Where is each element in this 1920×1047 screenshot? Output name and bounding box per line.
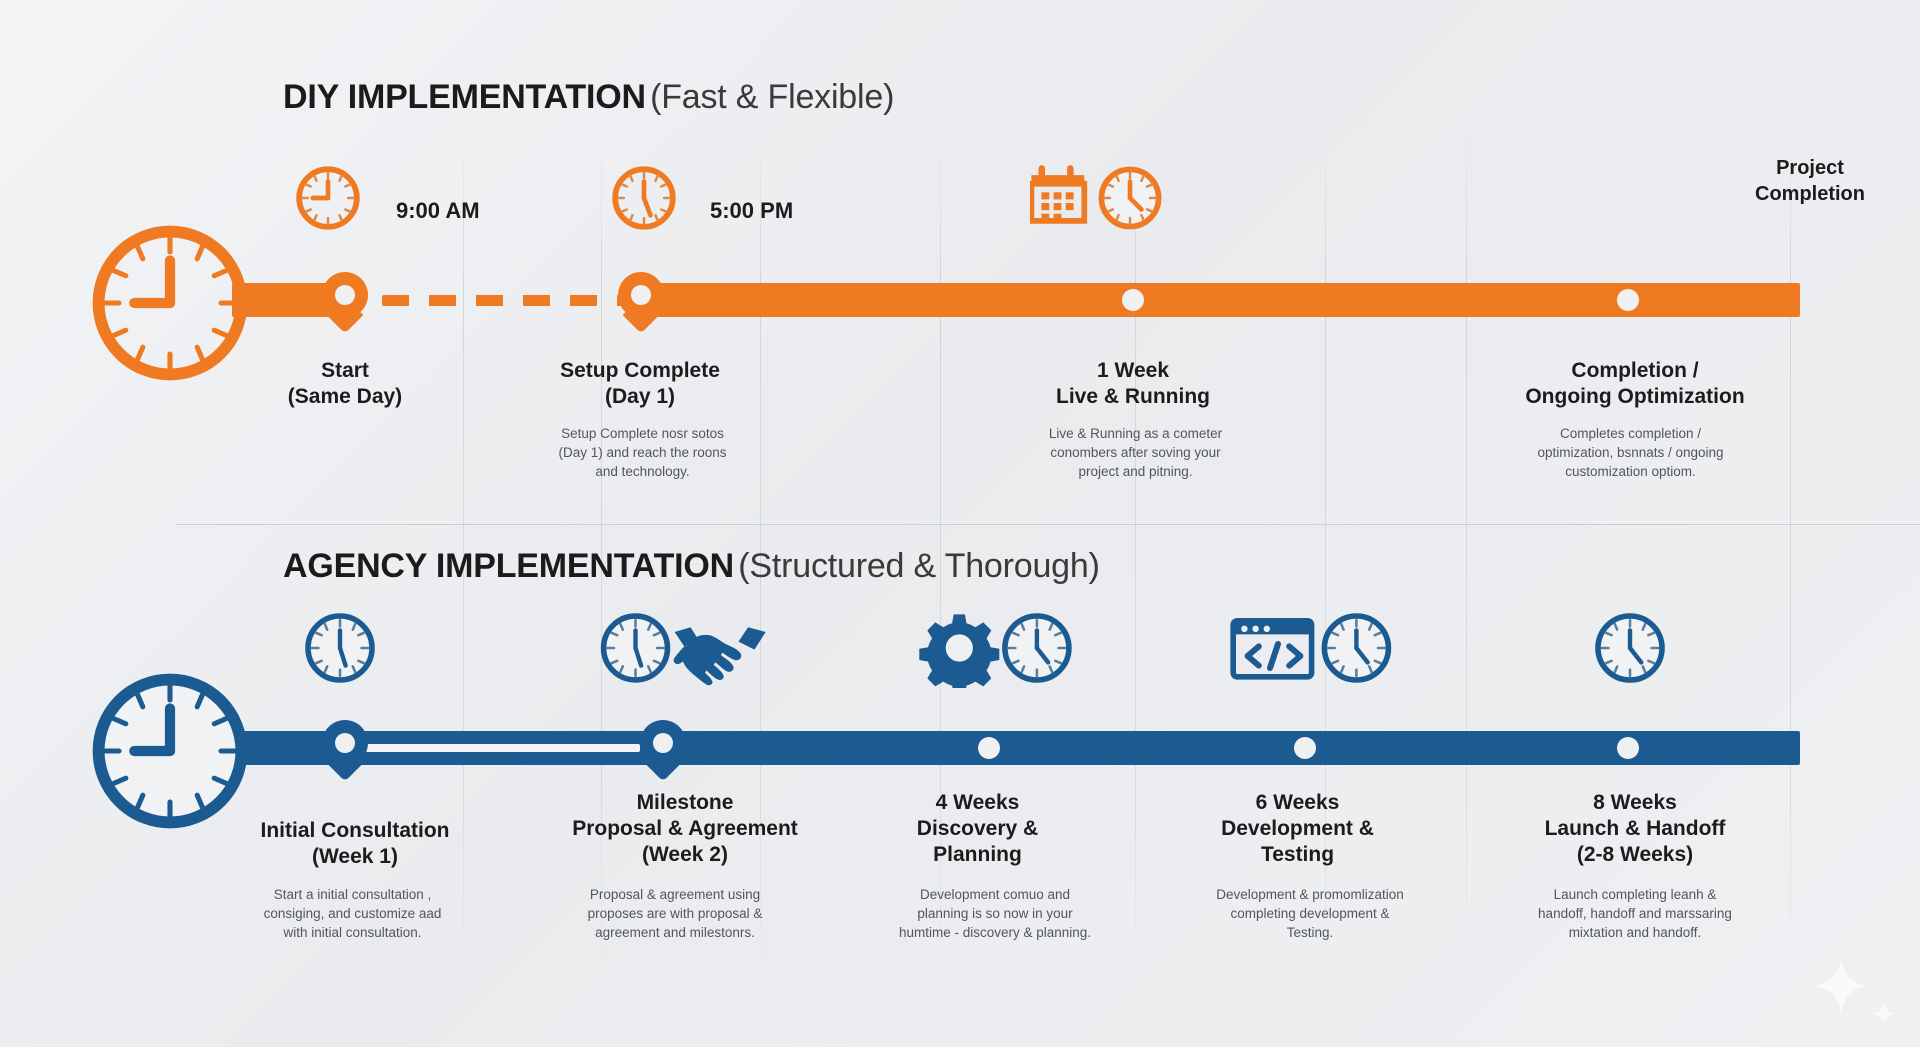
- agency-milestone-pin-0[interactable]: [322, 720, 368, 782]
- agency-milestone-label-4: 8 Weeks Launch & Handoff (2-8 Weeks): [1510, 790, 1760, 868]
- pin-hole: [631, 285, 651, 305]
- agency-milestone-desc-0: Start a initial consultation , consiging…: [245, 885, 460, 942]
- diy-marker-clock-icon-1: [292, 162, 364, 239]
- agency-milestone-node-3[interactable]: [1294, 737, 1316, 759]
- infographic-canvas: DIY IMPLEMENTATION (Fast & Flexible): [0, 0, 1920, 1047]
- agency-milestone-desc-4: Launch completing leanh & handoff, hando…: [1510, 885, 1760, 942]
- agency-milestone-node-4[interactable]: [1617, 737, 1639, 759]
- diy-marker-clock-icon-2: [608, 162, 680, 239]
- diy-project-completion-label: Project Completion: [1715, 155, 1905, 207]
- diy-milestone-node-1week[interactable]: [1122, 289, 1144, 311]
- diy-milestone-desc-2: Live & Running as a cometer conombers af…: [1028, 424, 1243, 481]
- diy-milestone-desc-3: Completes completion / optimization, bsn…: [1518, 424, 1743, 481]
- agency-milestone-desc-2: Development comuo and planning is so now…: [880, 885, 1110, 942]
- agency-milestone-pin-1[interactable]: [640, 720, 686, 782]
- sparkle-icon: [1810, 955, 1872, 1022]
- agency-start-clock-icon: [85, 666, 255, 841]
- pin-hole: [335, 733, 355, 753]
- agency-code-window-clock-icon: [1228, 608, 1408, 693]
- sparkle-small-icon: [1870, 1000, 1898, 1033]
- agency-milestone-desc-1: Proposal & agreement using proposes are …: [565, 885, 785, 942]
- diy-milestone-label-0: Start (Same Day): [225, 358, 465, 410]
- agency-gear-clock-icon: [915, 608, 1090, 693]
- agency-milestone-label-3: 6 Weeks Development & Testing: [1190, 790, 1405, 868]
- gridline: [1790, 130, 1791, 970]
- agency-section-title: AGENCY IMPLEMENTATION (Structured & Thor…: [283, 547, 1100, 586]
- agency-milestone-label-0: Initial Consultation (Week 1): [225, 818, 485, 870]
- diy-title-strong: DIY IMPLEMENTATION: [283, 78, 646, 116]
- agency-milestone-label-2: 4 Weeks Discovery & Planning: [870, 790, 1085, 868]
- agency-clock-handshake-icon: [598, 608, 788, 693]
- diy-milestone-label-1: Setup Complete (Day 1): [520, 358, 760, 410]
- section-divider: [175, 524, 1920, 525]
- agency-milestone-node-2[interactable]: [978, 737, 1000, 759]
- diy-section-title: DIY IMPLEMENTATION (Fast & Flexible): [283, 78, 894, 117]
- diy-milestone-node-completion[interactable]: [1617, 289, 1639, 311]
- diy-marker-time-1: 9:00 AM: [396, 198, 480, 224]
- gridline: [1466, 130, 1467, 970]
- agency-milestone-desc-3: Development & promomlization completing …: [1195, 885, 1425, 942]
- agency-clock-icon-1: [300, 608, 380, 693]
- diy-title-light: (Fast & Flexible): [650, 78, 894, 116]
- agency-title-strong: AGENCY IMPLEMENTATION: [283, 547, 734, 585]
- agency-clock-icon-5: [1590, 608, 1670, 693]
- diy-milestone-label-2: 1 Week Live & Running: [1013, 358, 1253, 410]
- pin-hole: [653, 733, 673, 753]
- diy-milestone-pin-start[interactable]: [322, 272, 368, 334]
- diy-milestone-pin-setup[interactable]: [618, 272, 664, 334]
- pin-hole: [335, 285, 355, 305]
- diy-dashed-segment: [382, 295, 640, 306]
- diy-marker-time-2: 5:00 PM: [710, 198, 793, 224]
- diy-calendar-clock-icon: [1030, 162, 1180, 239]
- diy-milestone-desc-1: Setup Complete nosr sotos (Day 1) and re…: [540, 424, 745, 481]
- diy-milestone-label-3: Completion / Ongoing Optimization: [1495, 358, 1775, 410]
- gridline: [1135, 130, 1136, 970]
- agency-bar-break: [345, 744, 640, 752]
- agency-milestone-label-1: Milestone Proposal & Agreement (Week 2): [545, 790, 825, 868]
- agency-title-light: (Structured & Thorough): [738, 547, 1099, 585]
